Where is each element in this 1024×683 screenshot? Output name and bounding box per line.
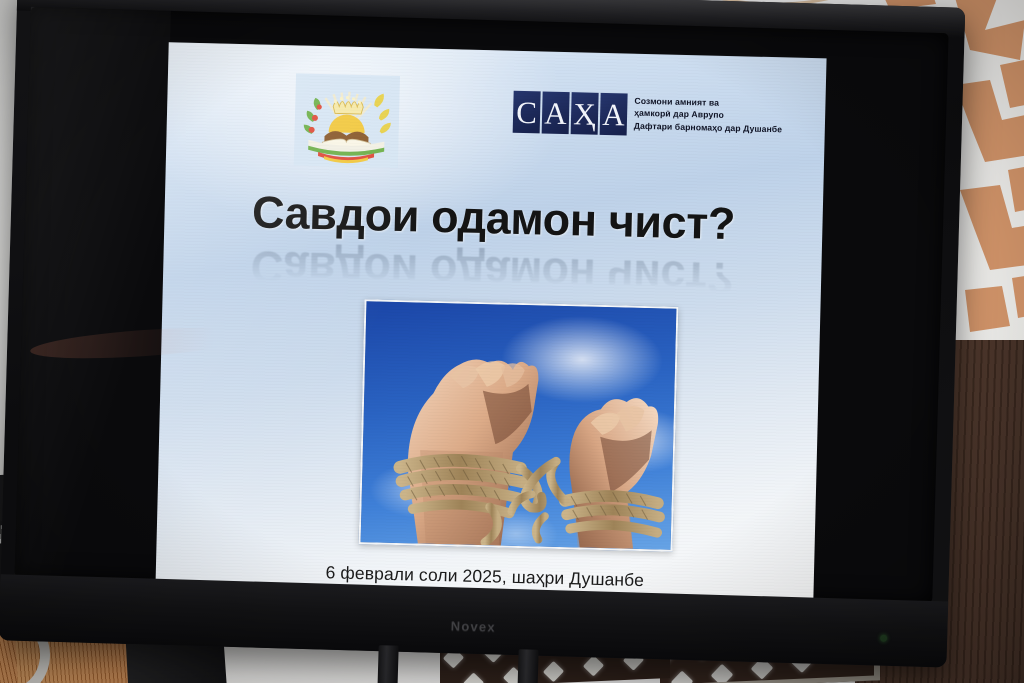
osce-logo: С А Ҳ А Созмони амният ва ҳамкорӣ дар Ав… <box>513 91 783 140</box>
bezel-sheen <box>15 7 171 581</box>
osce-line-3: Дафтари барномаҳо дар Душанбе <box>634 120 783 136</box>
monitor[interactable]: С А Ҳ А Созмони амният ва ҳамкорӣ дар Ав… <box>0 0 965 668</box>
osce-letter-2: А <box>542 91 570 134</box>
osce-letter-1: С <box>513 91 541 134</box>
slide-header: С А Ҳ А Созмони амният ва ҳамкорӣ дар Ав… <box>166 62 826 178</box>
left-fist <box>406 358 539 547</box>
monitor-stand-post-right <box>517 649 539 683</box>
osce-subtitle: Созмони амният ва ҳамкорӣ дар Аврупо Даф… <box>634 94 783 136</box>
power-led-icon[interactable] <box>880 635 887 642</box>
monitor-bezel: С А Ҳ А Созмони амният ва ҳамкорӣ дар Ав… <box>15 7 949 603</box>
osce-letter-boxes: С А Ҳ А <box>513 91 628 136</box>
monitor-brand-label: Novex <box>451 618 496 634</box>
room-scene: С А Ҳ А Созмони амният ва ҳамкорӣ дар Ав… <box>0 0 1024 683</box>
slide-title: Савдои одамон чист? <box>164 184 823 252</box>
presentation-slide[interactable]: С А Ҳ А Созмони амният ва ҳамкорӣ дар Ав… <box>155 42 827 620</box>
tajikistan-national-emblem-icon <box>294 73 400 168</box>
bound-fists-photo <box>359 299 679 552</box>
osce-letter-4: А <box>600 93 628 136</box>
osce-letter-3: Ҳ <box>571 92 599 135</box>
monitor-stand-post-left <box>377 645 399 683</box>
